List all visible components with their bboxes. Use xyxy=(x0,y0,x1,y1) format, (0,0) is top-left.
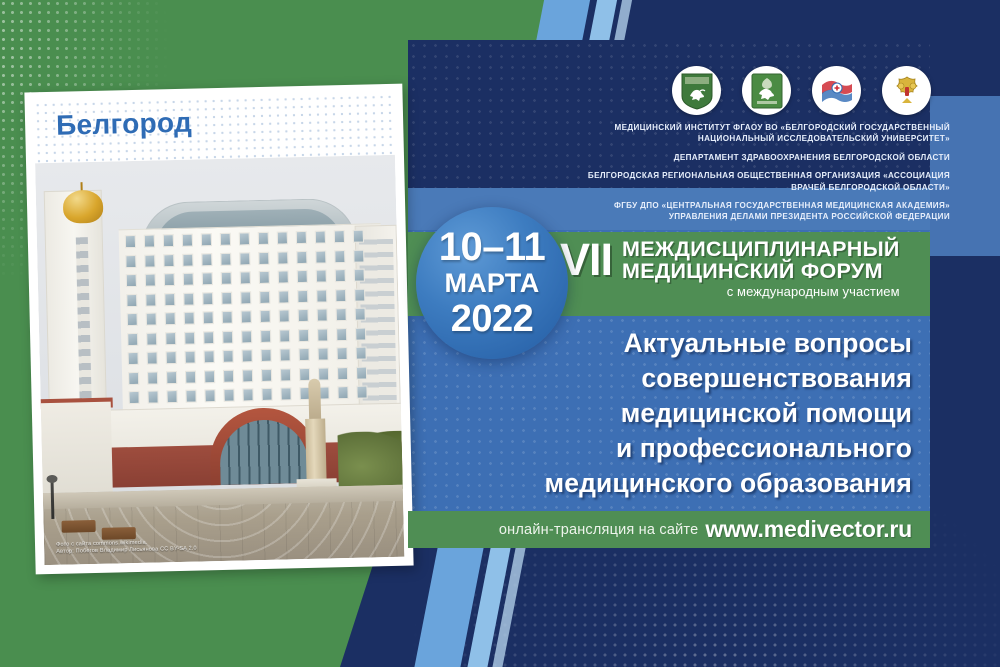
facade-window xyxy=(278,290,289,303)
facade-window xyxy=(220,233,231,246)
facade-window xyxy=(147,390,158,403)
facade-window xyxy=(261,368,272,381)
date-year: 2022 xyxy=(451,299,534,339)
facade-window xyxy=(356,386,367,399)
facade-window xyxy=(222,330,233,343)
facade-window xyxy=(184,331,195,344)
facade-window xyxy=(355,308,366,321)
facade-window xyxy=(315,230,326,243)
facade-window xyxy=(279,348,290,361)
organizer-item: Департамент здравоохранения Белгородской… xyxy=(560,152,950,163)
bench xyxy=(102,527,136,540)
facade-window xyxy=(144,234,155,247)
facade-window xyxy=(280,387,291,400)
event-date-badge: 10–11 МАРТА 2022 xyxy=(416,207,568,359)
broadcast-prefix: онлайн-трансляция на сайте xyxy=(499,522,698,538)
facade-window xyxy=(336,347,347,360)
facade-window xyxy=(258,232,269,245)
facade-window xyxy=(261,388,272,401)
facade-window xyxy=(223,389,234,402)
facade-window xyxy=(185,351,196,364)
facade-window xyxy=(147,371,158,384)
facade-window xyxy=(317,308,328,321)
facade-window xyxy=(240,291,251,304)
facade-window xyxy=(128,352,139,365)
facade-window xyxy=(220,252,231,265)
facade-window xyxy=(334,230,345,243)
facade-window xyxy=(259,290,270,303)
facade-window xyxy=(125,235,136,248)
facade-window xyxy=(203,350,214,363)
facade-window xyxy=(277,251,288,264)
facade-window xyxy=(277,231,288,244)
facade-window xyxy=(145,273,156,286)
headline-line: и профессионального xyxy=(420,431,912,466)
facade-window xyxy=(241,349,252,362)
facade-window xyxy=(146,312,157,325)
facade-window xyxy=(144,254,155,267)
forum-edition-number: VII xyxy=(560,237,612,282)
facade-window xyxy=(222,311,233,324)
facade-window xyxy=(164,293,175,306)
facade-window xyxy=(202,292,213,305)
headline-line: совершенствования xyxy=(420,361,912,396)
facade-window xyxy=(185,370,196,383)
belgorod-university-photo xyxy=(35,155,404,565)
facade-window xyxy=(201,233,212,246)
facade-window xyxy=(335,269,346,282)
facade-window xyxy=(203,331,214,344)
facade-window xyxy=(356,366,367,379)
belgorod-coat-of-arms-logo xyxy=(672,66,721,115)
facade-window xyxy=(259,271,270,284)
facade-window xyxy=(260,329,271,342)
facade-window xyxy=(355,327,366,340)
facade-window xyxy=(316,269,327,282)
broadcast-url[interactable]: www.medivector.ru xyxy=(705,516,912,543)
facade-window xyxy=(279,329,290,342)
facade-window xyxy=(166,371,177,384)
organizers-list: Медицинский институт ФГАОУ ВО «Белгородс… xyxy=(560,122,950,223)
date-month: МАРТА xyxy=(445,267,540,299)
facade-window xyxy=(127,332,138,345)
facade-window xyxy=(184,312,195,325)
facade-window xyxy=(127,313,138,326)
facade-window xyxy=(353,249,364,262)
forum-title-line-1: МЕЖДИСЦИПЛИНАРНЫЙ xyxy=(622,238,900,260)
facade-window xyxy=(183,273,194,286)
facade-window xyxy=(145,293,156,306)
facade-window xyxy=(317,328,328,341)
facade-window xyxy=(337,366,348,379)
facade-window xyxy=(336,327,347,340)
facade-window xyxy=(299,367,310,380)
forum-subtitle: с международным участием xyxy=(622,283,900,301)
facade-window xyxy=(258,251,269,264)
event-poster: Медицинский институт ФГАОУ ВО «Белгородс… xyxy=(0,0,1000,667)
facade-window xyxy=(355,347,366,360)
russian-federation-emblem-logo xyxy=(882,66,931,115)
medical-academy-logo xyxy=(812,66,861,115)
facade-window xyxy=(204,370,215,383)
facade-window xyxy=(260,349,271,362)
facade-window xyxy=(221,291,232,304)
city-label: Белгород xyxy=(56,107,193,142)
organizer-logos xyxy=(672,66,931,115)
facade-window xyxy=(204,389,215,402)
facade-window xyxy=(317,347,328,360)
facade-window xyxy=(240,271,251,284)
bench xyxy=(61,520,95,533)
facade-window xyxy=(316,289,327,302)
facade-window xyxy=(166,390,177,403)
facade-window xyxy=(279,309,290,322)
city-photo-card: Белгород xyxy=(24,84,413,575)
facade-window xyxy=(185,390,196,403)
headline-line: медицинской помощи xyxy=(420,396,912,431)
monument-figure xyxy=(308,379,321,423)
facade-window xyxy=(202,272,213,285)
facade-window xyxy=(315,250,326,263)
belgorod-region-coat-of-arms-logo xyxy=(742,66,791,115)
facade-window xyxy=(146,332,157,345)
facade-window xyxy=(164,273,175,286)
facade-window xyxy=(203,311,214,324)
facade-window xyxy=(128,391,139,404)
facade-window xyxy=(335,288,346,301)
facade-window xyxy=(297,270,308,283)
facade-window xyxy=(221,272,232,285)
facade-window xyxy=(241,310,252,323)
facade-window xyxy=(298,348,309,361)
facade-window xyxy=(182,234,193,247)
facade-window xyxy=(241,330,252,343)
facade-window xyxy=(278,270,289,283)
facade-window xyxy=(242,369,253,382)
facade-window xyxy=(239,252,250,265)
facade-window xyxy=(296,250,307,263)
headline-line: медицинского образования xyxy=(420,466,912,501)
facade-window xyxy=(280,368,291,381)
organizer-item: ФГБУ ДПО «Центральная государственная ме… xyxy=(560,200,950,223)
facade-window xyxy=(336,308,347,321)
facade-window xyxy=(298,328,309,341)
facade-window xyxy=(163,234,174,247)
facade-window xyxy=(125,254,136,267)
facade-window xyxy=(298,309,309,322)
facade-window xyxy=(201,253,212,266)
facade-window xyxy=(296,231,307,244)
facade-window xyxy=(126,274,137,287)
broadcast-bar: онлайн-трансляция на сайте www.medivecto… xyxy=(408,511,930,548)
facade-window xyxy=(165,312,176,325)
facade-window xyxy=(354,269,365,282)
facade-window xyxy=(163,254,174,267)
facade-window xyxy=(353,230,364,243)
facade-window-grid xyxy=(125,229,377,413)
monument-column xyxy=(305,419,327,485)
facade-window xyxy=(337,386,348,399)
facade-window xyxy=(297,289,308,302)
organizer-item: Белгородская региональная общественная о… xyxy=(560,170,950,193)
facade-window xyxy=(182,253,193,266)
facade-window xyxy=(239,232,250,245)
facade-window xyxy=(128,371,139,384)
facade-window xyxy=(223,369,234,382)
facade-window xyxy=(222,350,233,363)
golden-dome xyxy=(63,190,104,224)
facade-window xyxy=(126,293,137,306)
facade-window xyxy=(165,332,176,345)
facade-window xyxy=(147,351,158,364)
facade-window xyxy=(334,250,345,263)
facade-window xyxy=(242,388,253,401)
date-days: 10–11 xyxy=(439,227,546,267)
facade-window xyxy=(318,367,329,380)
facade-window xyxy=(183,292,194,305)
facade-window xyxy=(166,351,177,364)
facade-window xyxy=(260,310,271,323)
trees xyxy=(337,430,404,490)
forum-title-line-2: МЕДИЦИНСКИЙ ФОРУМ xyxy=(622,260,900,282)
organizer-item: Медицинский институт ФГАОУ ВО «Белгородс… xyxy=(560,122,950,145)
facade-window xyxy=(354,288,365,301)
